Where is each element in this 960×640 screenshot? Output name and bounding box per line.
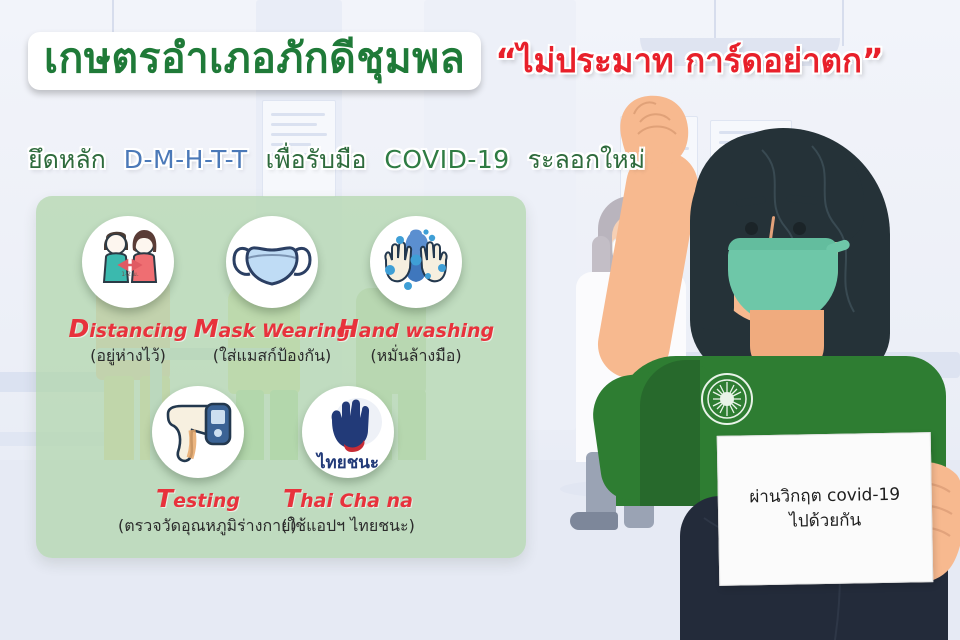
subtitle-lead: ยึดหลัก <box>28 145 106 174</box>
measure-thai-cha-na: ไทยชนะ Thai Cha na (ใช้แอปฯ ไทยชนะ) <box>268 386 428 539</box>
measure-sublabel-testing: (ตรวจวัดอุณหภูมิร่างกาย) <box>118 514 278 539</box>
distancing-icon: 1-2 ม. <box>82 216 174 308</box>
subtitle-tail: ระลอกใหม่ <box>528 145 646 174</box>
svg-text:1-2 ม.: 1-2 ม. <box>121 271 139 278</box>
subtitle-disease: COVID-19 <box>384 145 509 174</box>
subtitle-middle: เพื่อรับมือ <box>266 145 367 174</box>
protest-sign: ผ่านวิกฤต covid-19 ไปด้วยกัน <box>717 432 934 586</box>
sign-line-1: ผ่านวิกฤต covid-19 <box>749 483 900 510</box>
covid-infographic-poster: ผ่านวิกฤต covid-19 ไปด้วยกัน <box>0 0 960 640</box>
measure-label-mask: Mask Wearing <box>192 315 352 343</box>
measure-sublabel-mask: (ใส่แมสก์ป้องกัน) <box>192 344 352 369</box>
thai-chana-fist-icon: ไทยชนะ <box>302 386 394 478</box>
poster-header: เกษตรอำเภอภักดีชุมพล “ไม่ประมาท การ์ดอย่… <box>28 32 884 90</box>
measure-sublabel-distancing: (อยู่ห่างไว้) <box>48 344 208 369</box>
washing-hands-icon <box>370 216 462 308</box>
measure-sublabel-handwashing: (หมั่นล้างมือ) <box>336 344 496 369</box>
face-mask-icon <box>226 216 318 308</box>
subtitle: ยึดหลัก D-M-H-T-T เพื่อรับมือ COVID-19 ร… <box>28 140 655 180</box>
measure-distancing: 1-2 ม. Distancing (อยู่ห่างไว้) <box>48 216 208 369</box>
agency-emblem-icon <box>700 372 754 426</box>
measure-label-distancing: Distancing <box>48 315 208 343</box>
measure-testing: Testing (ตรวจวัดอุณหภูมิร่างกาย) <box>118 386 278 539</box>
measure-mask-wearing: Mask Wearing (ใส่แมสก์ป้องกัน) <box>192 216 352 369</box>
measure-label-testing: Testing <box>118 485 278 513</box>
measure-hand-washing: Hand washing (หมั่นล้างมือ) <box>336 216 496 369</box>
thai-chana-caption: ไทยชนะ <box>315 452 379 473</box>
measure-label-handwashing: Hand washing <box>336 315 496 343</box>
infrared-thermometer-icon <box>152 386 244 478</box>
page-title: เกษตรอำเภอภักดีชุมพล <box>28 32 481 90</box>
subtitle-principle: D-M-H-T-T <box>124 145 248 174</box>
measure-sublabel-thaichana: (ใช้แอปฯ ไทยชนะ) <box>268 514 428 539</box>
header-quote: “ไม่ประมาท การ์ดอย่าตก” <box>495 42 883 80</box>
measure-label-thaichana: Thai Cha na <box>268 485 428 513</box>
sign-line-2: ไปด้วยกัน <box>789 508 861 534</box>
